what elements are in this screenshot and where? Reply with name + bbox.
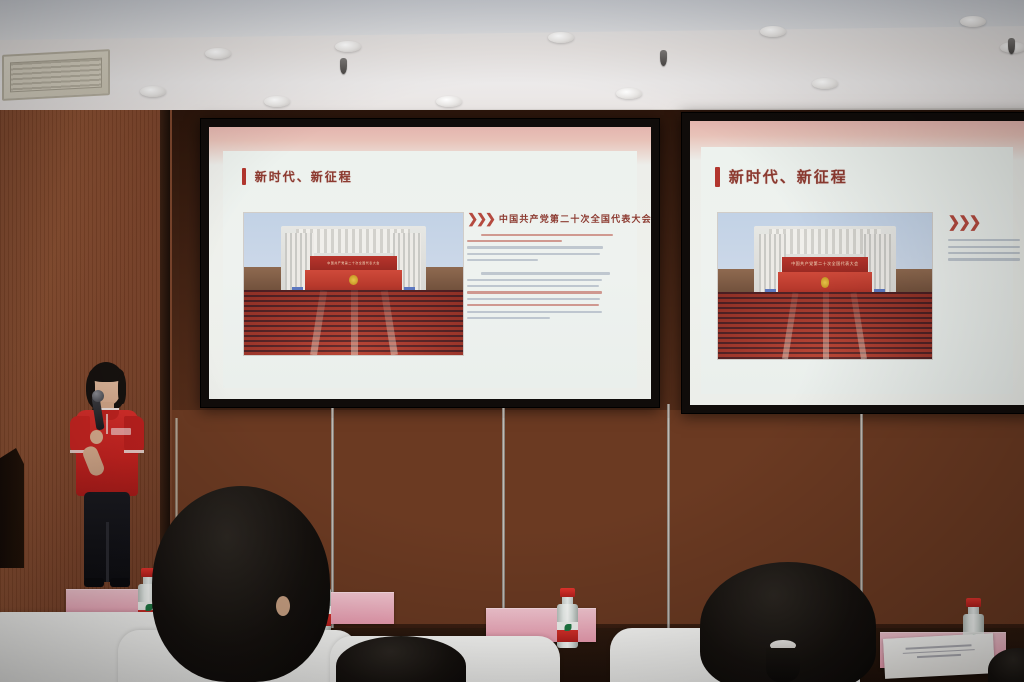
slide-text-column: ❯❯❯ 中国共产党第二十次全国代表大会: [467, 211, 620, 324]
downlight: [264, 96, 290, 107]
audience-head: [152, 486, 330, 682]
screen-support-pole: [502, 408, 505, 633]
leaf-icon: [564, 624, 571, 631]
microphone-head-icon: [92, 390, 104, 402]
hall-red-banner: 中国共产党第二十次全国代表大会: [310, 256, 398, 270]
chevron-right-icon: ❯❯❯: [467, 211, 494, 227]
hall-side-wall-right: [426, 267, 463, 293]
printed-document: [883, 633, 995, 679]
shirt-placket: [106, 414, 108, 434]
hall-national-emblem: [821, 277, 830, 287]
screen-support-pole: [667, 404, 670, 632]
hall-red-banner: 中国共产党第二十次全国代表大会: [782, 257, 868, 272]
sleeve-trim-right: [124, 450, 144, 453]
slide-photo-great-hall-secondary: 中国共产党第二十次全国代表大会: [718, 213, 932, 359]
sprinkler-head: [340, 58, 347, 74]
downlight: [140, 86, 166, 97]
water-bottle: [557, 588, 578, 648]
downlight: [616, 88, 642, 99]
title-accent-bar: [242, 168, 246, 185]
bottle-neck: [968, 607, 979, 614]
shirt-logo: [111, 428, 131, 435]
slide-body: 新时代、新征程 中国共产党第二十次全国代表大会: [223, 151, 637, 388]
downlight: [760, 26, 786, 37]
screen-surface-secondary: 新时代、新征程 中国共产党第二十次全国代表大会: [690, 121, 1024, 405]
hair-side-right: [118, 374, 126, 404]
document-text-line: [902, 649, 975, 654]
leaf-icon: [145, 604, 152, 611]
slide-heading: 中国共产党第二十次全国代表大会: [499, 212, 651, 225]
ac-vent: [2, 49, 110, 101]
ceiling-slope: [0, 0, 1024, 40]
slide-primary: 新时代、新征程 中国共产党第二十次全国代表大会: [209, 127, 651, 399]
slide-title-row: 新时代、新征程: [242, 168, 353, 185]
hall-banner-text: 中国共产党第二十次全国代表大会: [310, 256, 398, 270]
title-accent-bar: [715, 167, 720, 187]
conference-room-scene: 新时代、新征程 中国共产党第二十次全国代表大会: [0, 0, 1024, 682]
shoe-left: [84, 578, 104, 587]
slide-text-column-secondary: ❯❯❯: [948, 213, 1020, 265]
bottle-neck: [562, 597, 573, 604]
ceiling: [0, 0, 1024, 118]
leg-separation: [106, 522, 109, 582]
hall-banner-text: 中国共产党第二十次全国代表大会: [782, 257, 868, 272]
lectern: [0, 448, 24, 568]
slide-heading-row: ❯❯❯ 中国共产党第二十次全国代表大会: [467, 211, 620, 227]
document-text-line: [917, 654, 961, 658]
sprinkler-head: [660, 50, 667, 66]
sleeve-right: [124, 416, 144, 454]
bottle-cap: [560, 588, 575, 597]
slide-paragraph-1: [467, 234, 620, 262]
hall-side-wall-right: [896, 269, 932, 295]
slide-body-secondary: 新时代、新征程 中国共产党第二十次全国代表大会: [701, 147, 1014, 394]
bottle-cap: [966, 598, 981, 607]
slide-paragraph-2: [467, 272, 620, 319]
projection-screen-primary[interactable]: 新时代、新征程 中国共产党第二十次全国代表大会: [200, 118, 660, 408]
downlight: [436, 96, 462, 107]
slide-secondary: 新时代、新征程 中国共产党第二十次全国代表大会: [690, 121, 1024, 405]
shoe-right: [110, 578, 130, 587]
downlight: [960, 16, 986, 27]
hall-side-wall-left: [244, 267, 281, 293]
downlight: [548, 32, 574, 43]
bottle-body: [557, 604, 578, 648]
slide-title: 新时代、新征程: [255, 168, 353, 185]
downlight: [205, 48, 231, 59]
chevron-right-icon: ❯❯❯: [948, 214, 980, 231]
slide-photo-great-hall: 中国共产党第二十次全国代表大会: [244, 213, 463, 355]
slide-title-row-secondary: 新时代、新征程: [715, 166, 848, 187]
hall-aisle: [351, 290, 358, 355]
bottle-label: [557, 622, 578, 642]
projection-screen-secondary[interactable]: 新时代、新征程 中国共产党第二十次全国代表大会: [681, 112, 1024, 414]
slide-title-secondary: 新时代、新征程: [729, 166, 848, 187]
presenter-person: [64, 362, 148, 594]
ear: [276, 596, 290, 616]
slide-paragraph-secondary: [948, 239, 1020, 260]
hand: [90, 430, 103, 444]
hall-aisle: [823, 292, 829, 359]
hall-side-wall-left: [718, 269, 754, 295]
sprinkler-head: [1008, 38, 1015, 54]
ponytail: [766, 648, 800, 682]
downlight: [335, 41, 361, 52]
screen-surface: 新时代、新征程 中国共产党第二十次全国代表大会: [209, 127, 651, 399]
downlight: [812, 78, 838, 89]
